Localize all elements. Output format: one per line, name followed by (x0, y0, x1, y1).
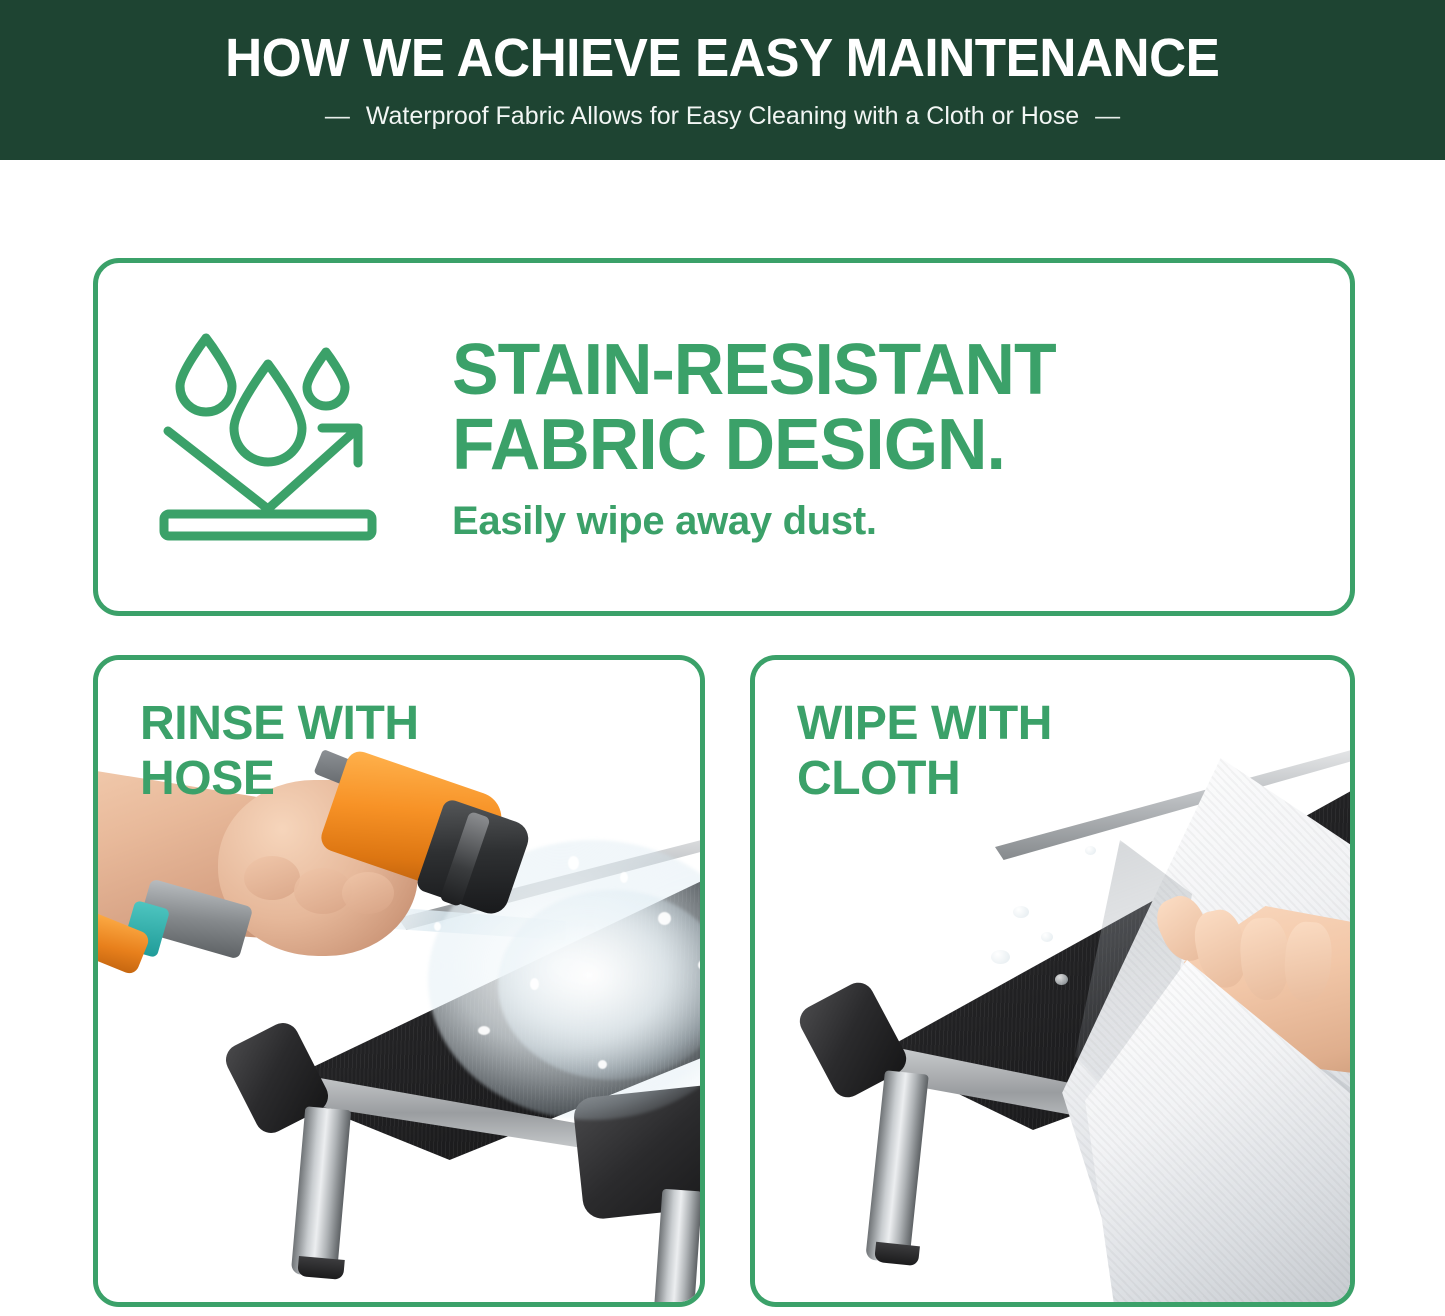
header-banner: HOW WE ACHIEVE EASY MAINTENANCE — Waterp… (0, 0, 1445, 160)
wipe-with-cloth-card: WIPE WITH CLOTH (750, 655, 1355, 1307)
water-droplet (598, 1060, 607, 1069)
water-droplet (478, 1026, 490, 1035)
knuckle (244, 856, 300, 900)
em-dash-right-icon: — (1095, 104, 1120, 129)
water-bead (1055, 974, 1068, 985)
rinse-with-hose-card: RINSE WITH HOSE (93, 655, 705, 1307)
page-title: HOW WE ACHIEVE EASY MAINTENANCE (225, 31, 1219, 85)
bed-leg-front (865, 1070, 929, 1264)
water-bead (1085, 846, 1096, 855)
bed-leg-tip (874, 1242, 920, 1266)
feature-title-line-1: STAIN-RESISTANT (452, 333, 1056, 407)
water-droplet (698, 960, 705, 970)
water-droplet (620, 872, 628, 883)
subtitle-row: — Waterproof Fabric Allows for Easy Clea… (325, 104, 1120, 129)
water-droplet (530, 978, 539, 990)
rinse-card-heading: RINSE WITH HOSE (140, 696, 419, 806)
feature-card-stain-resistant: STAIN-RESISTANT FABRIC DESIGN. Easily wi… (93, 258, 1355, 616)
feature-text-block: STAIN-RESISTANT FABRIC DESIGN. Easily wi… (452, 333, 1074, 540)
feature-card-content: STAIN-RESISTANT FABRIC DESIGN. Easily wi… (98, 263, 1350, 611)
page-subtitle: Waterproof Fabric Allows for Easy Cleani… (366, 104, 1079, 129)
knuckle (342, 872, 394, 914)
water-bead (1013, 906, 1029, 918)
bed-leg-tip (297, 1256, 345, 1280)
em-dash-left-icon: — (325, 104, 350, 129)
bed-leg-right (654, 1189, 703, 1307)
feature-title-line-2: FABRIC DESIGN. (452, 408, 1056, 482)
water-repellent-fabric-icon (150, 324, 400, 551)
bed-leg-front (291, 1106, 351, 1277)
feature-subtitle: Easily wipe away dust. (452, 501, 1074, 541)
water-bead (1041, 932, 1053, 942)
water-droplet (658, 912, 671, 925)
water-droplet (568, 856, 579, 870)
wipe-card-heading: WIPE WITH CLOTH (797, 696, 1052, 806)
water-bead (991, 950, 1010, 964)
water-droplet (434, 922, 441, 931)
